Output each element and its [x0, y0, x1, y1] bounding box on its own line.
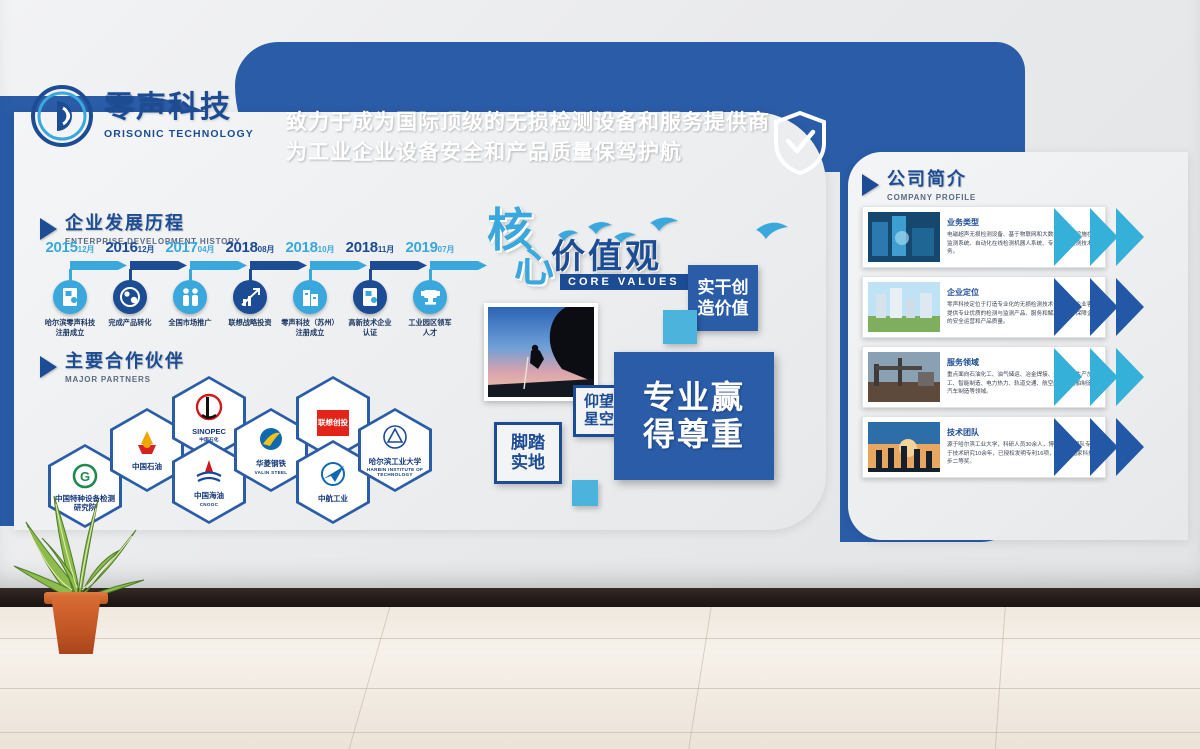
sound-wave-circle-icon [30, 84, 94, 148]
partner-name: 中国石油 [132, 463, 162, 472]
profile-card-notch [1054, 342, 1114, 417]
partner-name: SINOPEC [192, 428, 226, 437]
timeline-item: 201810月零声科技（苏州）注册成立 [280, 240, 340, 255]
profile-card-notch [1054, 412, 1114, 487]
value-tag-top: 实干创 造价值 [688, 265, 758, 331]
plant-pot [48, 598, 104, 654]
partner-name: 中航工业 [318, 495, 348, 504]
company-logo: 零声科技 ORISONIC TECHNOLOGY [30, 84, 254, 148]
tiled-floor [0, 600, 1200, 749]
partner-name-sub: HARBIN INSTITUTE OF TECHNOLOGY [363, 467, 427, 477]
timeline-arrow [190, 260, 248, 271]
timeline-item: 201811月高新技术企业认证 [340, 240, 400, 255]
logo-text-cn: 零声科技 [104, 93, 254, 123]
accent-square-top [663, 310, 697, 344]
profile-title-cn: 公司简介 [887, 170, 976, 188]
slogan-block: 致力于成为国际顶级的无损检测设备和服务提供商 为工业企业设备安全和产品质量保驾护… [286, 108, 770, 169]
timeline-gear-cycle-icon [113, 280, 147, 314]
timeline-month: 04月 [198, 245, 215, 254]
timeline-month: 08月 [258, 245, 275, 254]
value-tag-left-text: 脚踏 实地 [511, 433, 545, 474]
culture-wall-scene: 零声科技 ORISONIC TECHNOLOGY 致力于成为国际顶级的无损检测设… [0, 0, 1200, 749]
refinery-plant-photo [868, 352, 940, 402]
timeline-arrow [310, 260, 368, 271]
partners-title-cn: 主要合作伙伴 [65, 352, 185, 370]
partner-name-sub: CNOOC [200, 502, 219, 507]
team-silhouette-photo [868, 422, 940, 472]
timeline-year: 201808月 [220, 240, 280, 255]
triangle-bullet-icon [40, 218, 57, 240]
timeline-year: 201811月 [340, 240, 400, 255]
profile-title-en: COMPANY PROFILE [887, 193, 976, 202]
core-values-title-en: CORE VALUES [560, 274, 688, 290]
timeline-month: 07月 [438, 245, 455, 254]
cnooc-logo-icon [189, 457, 229, 492]
partner-name: 中国海油 [194, 492, 224, 501]
profile-section-header: 公司简介 COMPANY PROFILE [862, 170, 976, 202]
timeline-year: 201907月 [400, 240, 460, 255]
timeline-item: 201808月联想战略投资 [220, 240, 280, 255]
partner-name: 哈尔滨工业大学 [369, 458, 422, 467]
development-timeline: 201512月哈尔滨零声科技注册成立201612月完成产品转化201704月全国… [40, 240, 460, 335]
timeline-item: 201704月全国市场推广 [160, 240, 220, 255]
triangle-bullet-icon [40, 356, 57, 378]
partner-name-sub: VALIN STEEL [255, 470, 288, 475]
timeline-year: 201810月 [280, 240, 340, 255]
profile-card-notch [1054, 272, 1114, 347]
core-values-title-rest: 价值观 [551, 240, 662, 274]
core-values-title-small: 心 [514, 248, 556, 288]
value-tag-left: 脚踏 实地 [494, 422, 562, 484]
history-title-cn: 企业发展历程 [65, 214, 241, 232]
timeline-year: 201512月 [40, 240, 100, 255]
value-tag-mid-text: 仰望 星空 [584, 393, 614, 429]
partner-name: 华菱钢铁 [256, 460, 286, 469]
timeline-item: 201907月工业园区领军人才 [400, 240, 460, 255]
slogan-line-2: 为工业企业设备安全和产品质量保驾护航 [286, 138, 770, 168]
timeline-month: 12月 [78, 245, 95, 254]
timeline-trophy-icon [413, 280, 447, 314]
slogan-line-1: 致力于成为国际顶级的无损检测设备和服务提供商 [286, 108, 770, 138]
timeline-arrow [370, 260, 428, 271]
partners-section-header: 主要合作伙伴 MAJOR PARTNERS [40, 352, 185, 384]
timeline-month: 10月 [318, 245, 335, 254]
timeline-item: 201512月哈尔滨零声科技注册成立 [40, 240, 100, 255]
timeline-certificate-icon [53, 280, 87, 314]
profile-card-notch [1054, 202, 1114, 277]
sinopec-logo-icon [189, 393, 229, 428]
timeline-arrow [250, 260, 308, 271]
valin-steel-logo-icon [251, 425, 291, 460]
timeline-item: 201612月完成产品转化 [100, 240, 160, 255]
hit-logo-icon [375, 423, 415, 458]
industrial-machinery-photo [868, 212, 940, 262]
partner-name: 联想创投 [318, 419, 348, 428]
value-tag-top-text: 实干创 造价值 [698, 277, 749, 320]
avic-logo-icon [313, 460, 353, 495]
timeline-building-icon [293, 280, 327, 314]
core-values-main-line-1: 专业赢 [643, 379, 745, 416]
core-values-main-line-2: 得尊重 [643, 416, 745, 453]
petrochina-logo-icon [127, 428, 167, 463]
dark-baseboard [0, 585, 1200, 607]
timeline-people-icon [173, 280, 207, 314]
timeline-year: 201704月 [160, 240, 220, 255]
accent-square-bottom [572, 480, 598, 506]
city-skyline-photo [868, 282, 940, 332]
core-values-main-slogan: 专业赢 得尊重 [614, 352, 774, 480]
timeline-month: 12月 [138, 245, 155, 254]
logo-text-en: ORISONIC TECHNOLOGY [104, 128, 254, 140]
shield-check-icon [772, 110, 828, 176]
timeline-year: 201612月 [100, 240, 160, 255]
timeline-growth-chart-icon [233, 280, 267, 314]
triangle-bullet-icon [862, 174, 879, 196]
timeline-arrow [70, 260, 128, 271]
timeline-label: 工业园区领军人才 [392, 318, 468, 337]
timeline-arrow [130, 260, 188, 271]
potted-plant [8, 478, 148, 648]
timeline-certificate-icon [353, 280, 387, 314]
timeline-month: 11月 [378, 245, 394, 254]
